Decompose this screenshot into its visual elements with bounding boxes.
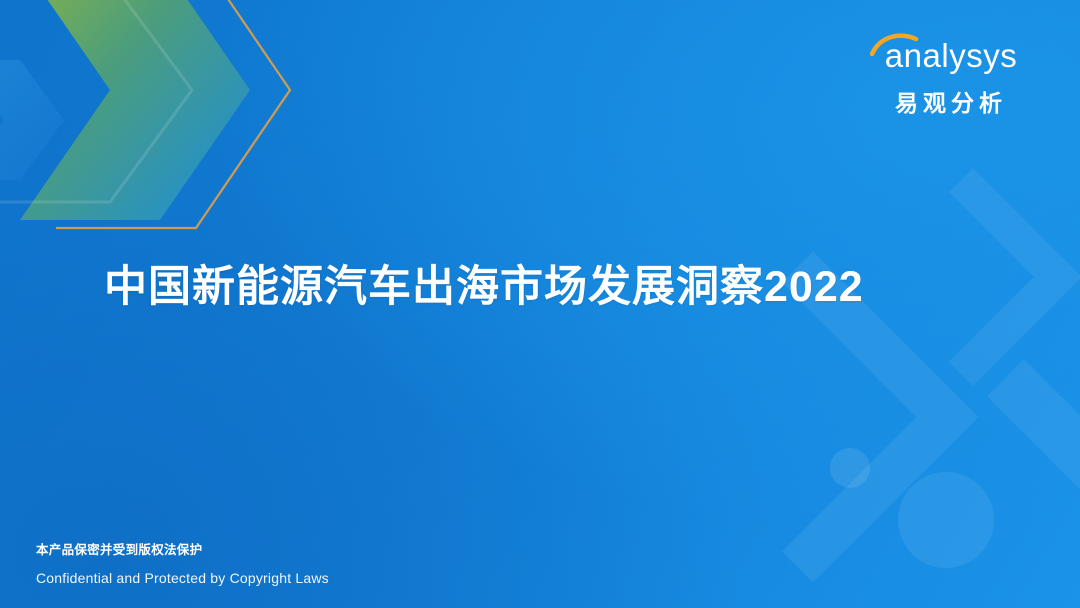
logo-chinese-name: 易观分析	[866, 84, 1036, 118]
arrow-decoration	[0, 0, 380, 270]
title-slide: analysys 易观分析 中国新能源汽车出海市场发展洞察2022 本产品保密并…	[0, 0, 1080, 608]
circle-decoration-2	[830, 448, 870, 488]
analysys-logo: analysys 易观分析	[866, 30, 1036, 118]
footer-confidential-en: Confidential and Protected by Copyright …	[36, 570, 329, 586]
footer-confidential-cn: 本产品保密并受到版权法保护	[36, 539, 329, 558]
circle-decoration-1	[898, 472, 994, 568]
logo-mark: analysys	[866, 30, 1036, 82]
swoosh-icon	[870, 32, 922, 62]
footer: 本产品保密并受到版权法保护 Confidential and Protected…	[36, 539, 329, 586]
page-title: 中国新能源汽车出海市场发展洞察2022	[104, 252, 864, 314]
